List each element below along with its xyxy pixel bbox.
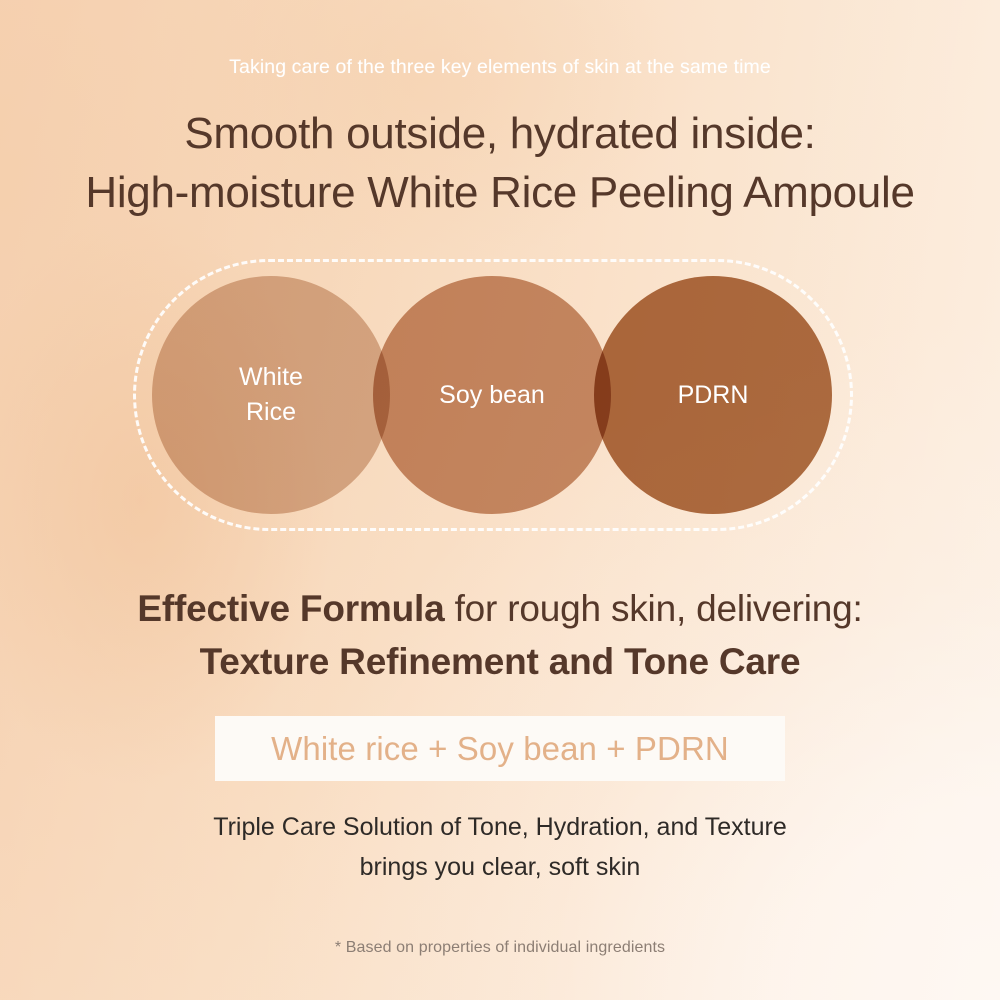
formula-line-1-rest: for rough skin, delivering: xyxy=(445,588,863,629)
formula-line-1: Effective Formula for rough skin, delive… xyxy=(137,583,862,636)
headline-line-2: High-moisture White Rice Peeling Ampoule xyxy=(85,164,914,223)
ingredient-banner-text: White rice + Soy bean + PDRN xyxy=(271,730,729,768)
ingredient-venn-diagram: White Rice Soy bean PDRN xyxy=(130,253,870,535)
footnote-disclaimer: * Based on properties of individual ingr… xyxy=(335,939,665,957)
venn-circle-pdrn xyxy=(594,276,832,514)
eyebrow-tagline: Taking care of the three key elements of… xyxy=(229,55,771,80)
benefit-subtext: Triple Care Solution of Tone, Hydration,… xyxy=(213,807,786,887)
headline-line-1: Smooth outside, hydrated inside: xyxy=(85,105,914,164)
venn-circle-white-rice xyxy=(152,276,390,514)
formula-line-2: Texture Refinement and Tone Care xyxy=(137,636,862,689)
page-title: Smooth outside, hydrated inside: High-mo… xyxy=(85,105,914,223)
benefit-subtext-line-2: brings you clear, soft skin xyxy=(213,847,786,887)
formula-emphasis: Effective Formula xyxy=(137,588,444,629)
ingredient-banner: White rice + Soy bean + PDRN xyxy=(215,716,785,781)
venn-circle-soy-bean xyxy=(373,276,611,514)
promo-page: Taking care of the three key elements of… xyxy=(0,0,1000,1000)
formula-claim: Effective Formula for rough skin, delive… xyxy=(137,583,862,688)
venn-circle-group xyxy=(130,253,870,535)
benefit-subtext-line-1: Triple Care Solution of Tone, Hydration,… xyxy=(213,807,786,847)
